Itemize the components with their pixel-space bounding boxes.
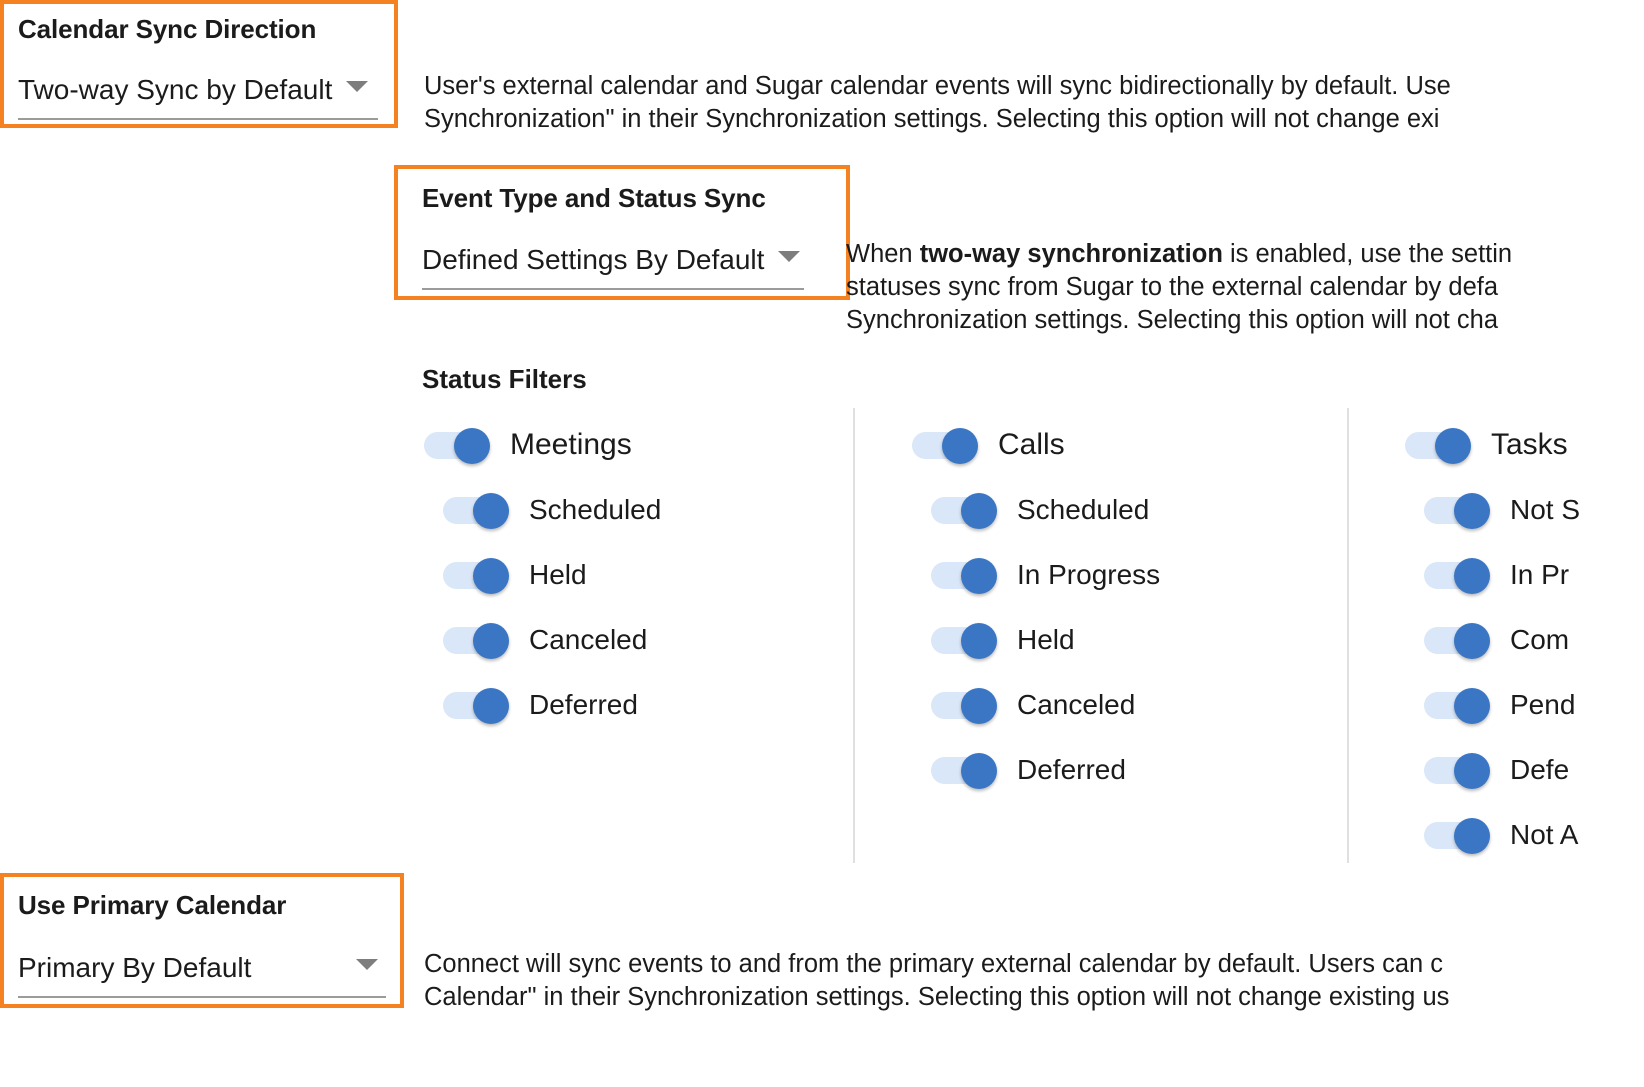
status-filter-label: Deferred: [1017, 754, 1126, 786]
toggle-switch[interactable]: [443, 688, 509, 722]
toggle-thumb: [961, 558, 997, 594]
status-filter-label: Held: [529, 559, 587, 591]
status-filter-label: Tasks: [1491, 428, 1568, 462]
status-filter-item-tasks-not-applicable[interactable]: Not A: [1424, 818, 1578, 852]
event-type-status-sync-label: Event Type and Status Sync: [422, 183, 766, 214]
calendar-sync-direction-description-line1: User's external calendar and Sugar calen…: [424, 70, 1451, 103]
desc-pre: When: [846, 240, 920, 268]
desc-bold: two-way synchronization: [920, 240, 1223, 268]
toggle-thumb: [961, 688, 997, 724]
status-filter-label: Com: [1510, 624, 1569, 656]
toggle-switch[interactable]: [443, 623, 509, 657]
toggle-thumb: [454, 428, 490, 464]
toggle-thumb: [473, 558, 509, 594]
status-filter-label: Scheduled: [529, 494, 661, 526]
status-filter-item-meetings-scheduled[interactable]: Scheduled: [443, 493, 661, 527]
status-filter-group-meetings[interactable]: Meetings: [424, 428, 632, 462]
calendar-sync-direction-label: Calendar Sync Direction: [18, 14, 316, 45]
toggle-switch-meetings[interactable]: [424, 428, 490, 462]
status-filter-item-calls-in-progress[interactable]: In Progress: [931, 558, 1160, 592]
toggle-switch[interactable]: [1424, 558, 1490, 592]
status-filter-item-meetings-canceled[interactable]: Canceled: [443, 623, 647, 657]
toggle-thumb: [961, 623, 997, 659]
toggle-thumb: [1454, 493, 1490, 529]
status-filter-label: In Progress: [1017, 559, 1160, 591]
toggle-switch[interactable]: [931, 558, 997, 592]
calendar-sync-direction-value: Two-way Sync by Default: [18, 74, 332, 106]
toggle-thumb: [942, 428, 978, 464]
status-filter-group-tasks[interactable]: Tasks: [1405, 428, 1568, 462]
toggle-switch-tasks[interactable]: [1405, 428, 1471, 462]
toggle-switch[interactable]: [931, 688, 997, 722]
status-filter-item-meetings-held[interactable]: Held: [443, 558, 587, 592]
toggle-switch[interactable]: [1424, 493, 1490, 527]
use-primary-calendar-value: Primary By Default: [18, 952, 251, 984]
toggle-thumb: [473, 493, 509, 529]
calendar-sync-direction-description: User's external calendar and Sugar calen…: [424, 70, 1451, 136]
status-filter-label: Defe: [1510, 754, 1569, 786]
status-filter-label: Not A: [1510, 819, 1578, 851]
status-filter-label: Canceled: [1017, 689, 1135, 721]
status-filter-label: Pend: [1510, 689, 1575, 721]
status-filter-item-tasks-deferred[interactable]: Defe: [1424, 753, 1569, 787]
toggle-thumb: [1454, 818, 1490, 854]
status-filter-label: Not S: [1510, 494, 1580, 526]
toggle-switch-calls[interactable]: [912, 428, 978, 462]
toggle-switch[interactable]: [443, 493, 509, 527]
use-primary-calendar-description: Connect will sync events to and from the…: [424, 948, 1449, 1014]
chevron-down-icon: [778, 251, 800, 262]
chevron-down-icon: [356, 959, 378, 970]
desc-post: is enabled, use the settin: [1223, 240, 1512, 268]
toggle-switch[interactable]: [1424, 753, 1490, 787]
status-filters-divider-2: [1347, 408, 1349, 863]
calendar-sync-direction-underline: [18, 118, 378, 120]
toggle-thumb: [961, 493, 997, 529]
toggle-switch[interactable]: [1424, 688, 1490, 722]
toggle-switch[interactable]: [931, 623, 997, 657]
status-filter-item-calls-held[interactable]: Held: [931, 623, 1075, 657]
status-filter-label: In Pr: [1510, 559, 1569, 591]
status-filter-group-calls[interactable]: Calls: [912, 428, 1065, 462]
toggle-switch[interactable]: [1424, 818, 1490, 852]
toggle-thumb: [1454, 753, 1490, 789]
toggle-thumb: [473, 688, 509, 724]
status-filter-label: Meetings: [510, 428, 632, 462]
use-primary-calendar-select[interactable]: Primary By Default: [18, 952, 378, 984]
event-type-status-sync-underline: [422, 288, 804, 290]
status-filter-item-tasks-completed[interactable]: Com: [1424, 623, 1569, 657]
status-filter-label: Calls: [998, 428, 1065, 462]
use-primary-calendar-description-line2: Calendar" in their Synchronization setti…: [424, 981, 1449, 1014]
use-primary-calendar-label: Use Primary Calendar: [18, 890, 286, 921]
status-filter-item-calls-deferred[interactable]: Deferred: [931, 753, 1126, 787]
status-filter-label: Held: [1017, 624, 1075, 656]
status-filter-label: Deferred: [529, 689, 638, 721]
toggle-thumb: [473, 623, 509, 659]
toggle-switch[interactable]: [931, 493, 997, 527]
toggle-switch[interactable]: [1424, 623, 1490, 657]
use-primary-calendar-description-line1: Connect will sync events to and from the…: [424, 948, 1449, 981]
toggle-thumb: [1454, 623, 1490, 659]
status-filter-item-calls-scheduled[interactable]: Scheduled: [931, 493, 1149, 527]
toggle-switch[interactable]: [443, 558, 509, 592]
calendar-sync-direction-description-line2: Synchronization" in their Synchronizatio…: [424, 103, 1451, 136]
chevron-down-icon: [346, 81, 368, 92]
status-filter-label: Scheduled: [1017, 494, 1149, 526]
status-filter-item-meetings-deferred[interactable]: Deferred: [443, 688, 638, 722]
event-type-status-sync-value: Defined Settings By Default: [422, 244, 764, 276]
event-type-status-sync-description-line2: statuses sync from Sugar to the external…: [846, 271, 1512, 304]
use-primary-calendar-underline: [18, 996, 386, 998]
calendar-sync-direction-select[interactable]: Two-way Sync by Default: [18, 74, 368, 106]
status-filters-divider-1: [853, 408, 855, 863]
event-type-status-sync-description-line1: When two-way synchronization is enabled,…: [846, 238, 1512, 271]
event-type-status-sync-select[interactable]: Defined Settings By Default: [422, 244, 800, 276]
toggle-thumb: [1454, 558, 1490, 594]
status-filter-item-calls-canceled[interactable]: Canceled: [931, 688, 1135, 722]
event-type-status-sync-description-line3: Synchronization settings. Selecting this…: [846, 304, 1512, 337]
status-filter-item-tasks-pending[interactable]: Pend: [1424, 688, 1575, 722]
status-filter-item-tasks-not-started[interactable]: Not S: [1424, 493, 1580, 527]
toggle-thumb: [1435, 428, 1471, 464]
status-filters-title: Status Filters: [422, 364, 587, 395]
toggle-thumb: [1454, 688, 1490, 724]
settings-page: Calendar Sync Direction Two-way Sync by …: [0, 0, 1644, 1087]
event-type-status-sync-description: When two-way synchronization is enabled,…: [846, 238, 1512, 337]
toggle-switch[interactable]: [931, 753, 997, 787]
toggle-thumb: [961, 753, 997, 789]
status-filter-label: Canceled: [529, 624, 647, 656]
status-filter-item-tasks-in-progress[interactable]: In Pr: [1424, 558, 1569, 592]
